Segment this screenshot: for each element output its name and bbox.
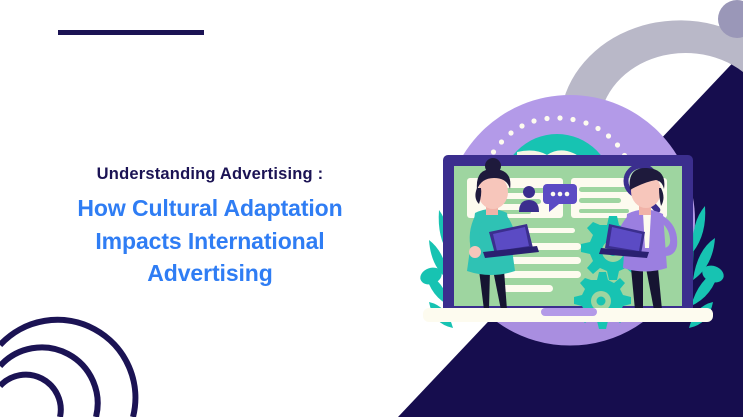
bottom-left-arcs bbox=[0, 320, 135, 417]
headline-line-2: Impacts International bbox=[95, 228, 324, 254]
banner-root: Understanding Advertising : How Cultural… bbox=[0, 0, 743, 417]
title-block: Understanding Advertising : How Cultural… bbox=[30, 165, 390, 290]
top-rule-accent bbox=[58, 30, 204, 35]
page-title: How Cultural Adaptation Impacts Internat… bbox=[30, 192, 390, 290]
global-advertising-team-illustration bbox=[413, 0, 743, 417]
laptop-trackpad-notch bbox=[541, 308, 597, 316]
headline-line-1: How Cultural Adaptation bbox=[77, 195, 342, 221]
headline-line-3: Advertising bbox=[147, 260, 272, 286]
eyebrow-text: Understanding Advertising : bbox=[30, 165, 390, 183]
